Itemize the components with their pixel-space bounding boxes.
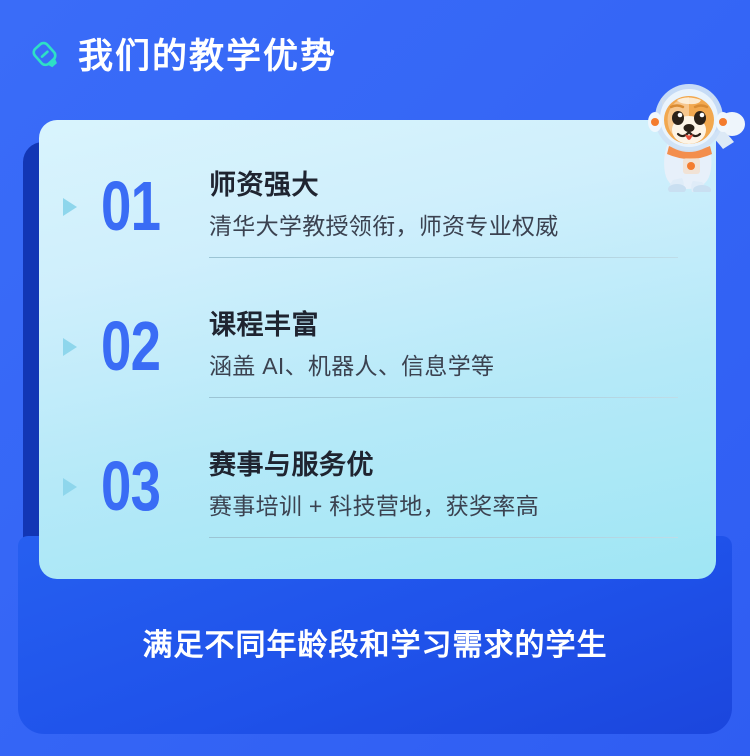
feature-title: 师资强大 <box>209 169 678 203</box>
feature-title: 课程丰富 <box>209 309 678 343</box>
feature-item-03[interactable]: 03 赛事与服务优 赛事培训 + 科技营地，获奖率高 <box>39 422 716 562</box>
feature-subtitle: 赛事培训 + 科技营地，获奖率高 <box>209 492 678 522</box>
feature-divider <box>209 397 678 398</box>
feature-texts: 赛事与服务优 赛事培训 + 科技营地，获奖率高 <box>209 433 716 522</box>
feature-divider <box>209 257 678 258</box>
features-card: 01 师资强大 清华大学教授领衔，师资专业权威 02 课程丰富 涵盖 AI、机器… <box>39 120 716 579</box>
triangle-right-icon <box>63 198 77 216</box>
triangle-right-icon <box>63 478 77 496</box>
bullet-wrap <box>39 433 101 496</box>
astronaut-corgi-mascot <box>636 72 750 192</box>
bullet-wrap <box>39 153 101 216</box>
feature-list: 01 师资强大 清华大学教授领衔，师资专业权威 02 课程丰富 涵盖 AI、机器… <box>39 142 716 562</box>
feature-divider <box>209 537 678 538</box>
feature-texts: 课程丰富 涵盖 AI、机器人、信息学等 <box>209 293 716 382</box>
header: 我们的教学优势 <box>28 38 337 74</box>
feature-number: 02 <box>101 293 185 381</box>
feature-subtitle: 清华大学教授领衔，师资专业权威 <box>209 212 678 242</box>
feature-item-02[interactable]: 02 课程丰富 涵盖 AI、机器人、信息学等 <box>39 282 716 422</box>
highlighter-marker-icon <box>28 38 64 74</box>
bullet-wrap <box>39 293 101 356</box>
promo-poster: 我们的教学优势 满足不同年龄段和学习需求的学生 01 师资强大 清华大学教授领衔… <box>0 0 750 756</box>
triangle-right-icon <box>63 338 77 356</box>
footer-caption: 满足不同年龄段和学习需求的学生 <box>143 631 608 661</box>
page-title: 我们的教学优势 <box>78 39 337 74</box>
feature-title: 赛事与服务优 <box>209 449 678 483</box>
feature-number: 01 <box>101 153 185 241</box>
feature-item-01[interactable]: 01 师资强大 清华大学教授领衔，师资专业权威 <box>39 142 716 282</box>
feature-number: 03 <box>101 433 185 521</box>
feature-subtitle: 涵盖 AI、机器人、信息学等 <box>209 352 678 382</box>
